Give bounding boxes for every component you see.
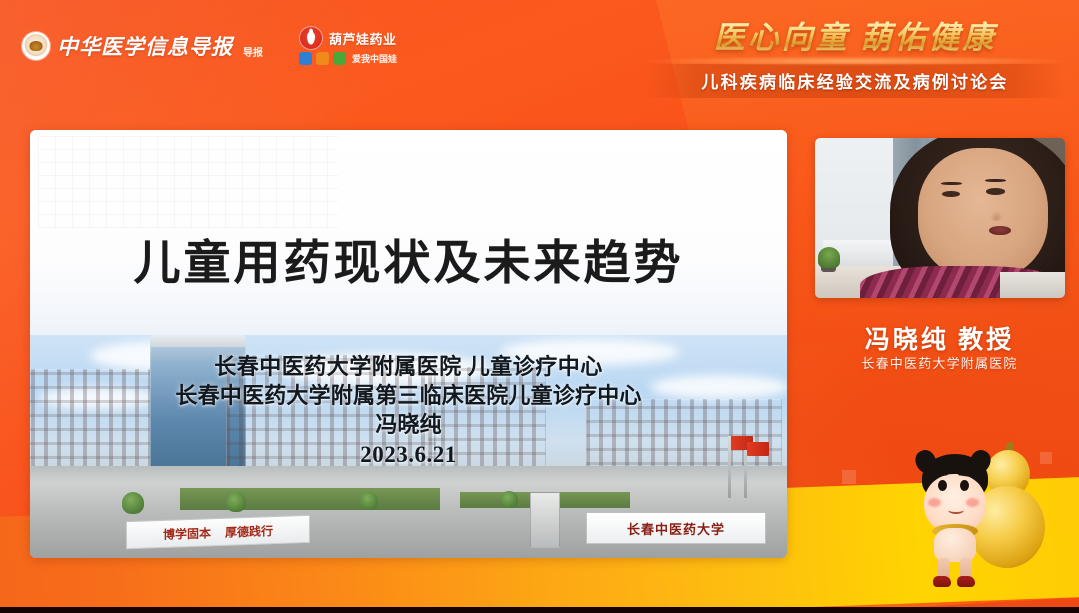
speaker-affiliation: 长春中医药大学附属医院 <box>800 353 1079 372</box>
campus-wall-sign-left-text: 博学固本 <box>163 524 211 543</box>
mascot-cheek-left <box>928 498 941 507</box>
org-logo-name: 中华医学信息导报 <box>57 31 233 61</box>
sponsor-tagline: 爱我中国娃 <box>352 52 397 65</box>
sparkle-square <box>842 470 856 484</box>
cloud <box>650 375 787 399</box>
gourd-flame-icon <box>299 26 323 50</box>
campus-photo: 博学固本 厚德践行 长春中医药大学 <box>30 335 787 558</box>
mascot-shoe-left <box>933 576 951 587</box>
org-logo-suffix: 导报 <box>243 44 263 61</box>
broadcast-stage: 中华医学信息导报 导报 葫芦娃药业 爱我中国娃 医心向童 葫佑健康 儿科疾病临床… <box>0 0 1079 613</box>
event-title-block: 医心向童 葫佑健康 儿科疾病临床经验交流及病例讨论会 <box>645 12 1065 98</box>
sponsor-dot-blue-icon <box>299 52 312 65</box>
mascot-child <box>908 454 1004 582</box>
mascot-mouth <box>948 506 964 514</box>
speaker-brow-right <box>985 179 1006 182</box>
mascot-eye-left <box>938 480 947 491</box>
society-seal-icon <box>22 32 50 60</box>
logo-row: 中华医学信息导报 导报 葫芦娃药业 爱我中国娃 <box>22 26 397 65</box>
sponsor-logo-name: 葫芦娃药业 <box>329 29 397 48</box>
speaker-nose <box>990 211 1003 221</box>
cloud <box>500 339 680 365</box>
mascot-cheek-right <box>966 498 979 507</box>
speaker-name: 冯晓纯 教授 <box>800 320 1079 356</box>
tree <box>226 492 246 512</box>
gate-pillar <box>530 492 560 548</box>
org-logo: 中华医学信息导报 导报 <box>22 31 263 61</box>
speaker-brow-left <box>941 182 962 185</box>
huluwa-mascot <box>908 438 1073 588</box>
campus-gate-sign: 长春中医药大学 <box>586 512 766 544</box>
speaker-eye-left <box>942 191 960 198</box>
flag <box>747 442 769 456</box>
speaker-face <box>918 148 1048 279</box>
lawn <box>180 488 440 510</box>
speaker-video-feed[interactable] <box>815 138 1065 298</box>
speaker-eye-right <box>986 188 1004 195</box>
mascot-shoe-right <box>957 576 975 587</box>
sponsor-dot-green-icon <box>333 52 346 65</box>
bottom-letterbox <box>0 607 1079 613</box>
event-subtitle: 儿科疾病临床经验交流及病例讨论会 <box>651 68 1059 93</box>
mascot-eye-right <box>960 480 969 491</box>
sponsor-logo: 葫芦娃药业 爱我中国娃 <box>299 26 397 65</box>
tree <box>122 492 144 514</box>
campus-wall-sign-right-text: 厚德践行 <box>225 522 273 541</box>
sponsor-dot-orange-icon <box>316 52 329 65</box>
tree <box>500 491 518 508</box>
event-title: 医心向童 葫佑健康 <box>645 12 1065 57</box>
video-plant <box>818 247 841 268</box>
event-subtitle-bar: 儿科疾病临床经验交流及病例讨论会 <box>645 64 1065 98</box>
slide-title: 儿童用药现状及未来趋势 <box>30 224 787 293</box>
speaker-mouth <box>989 226 1011 235</box>
mascot-body <box>934 528 976 562</box>
tree <box>360 492 378 510</box>
speaker-shirt-collar <box>1000 272 1065 298</box>
presentation-slide[interactable]: 儿童用药现状及未来趋势 <box>30 130 787 558</box>
